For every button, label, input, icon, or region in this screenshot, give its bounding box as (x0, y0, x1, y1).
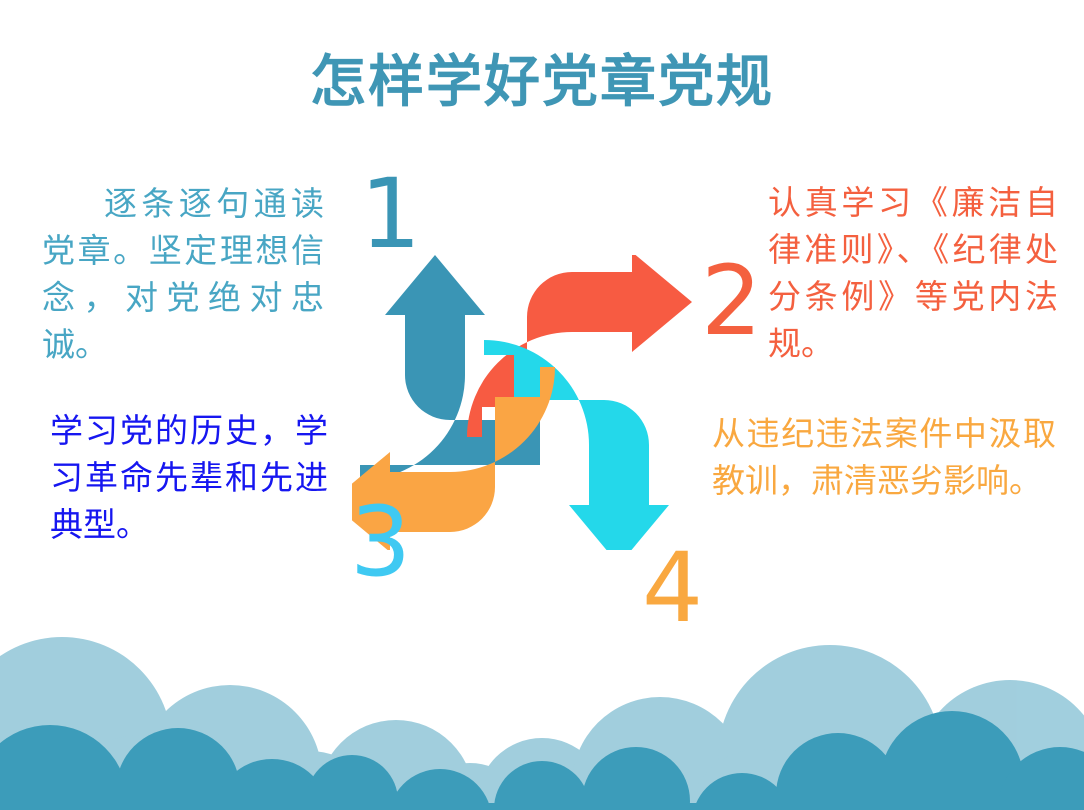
step-text-2: 认真学习《廉洁自律准则》、《纪律处分条例》等党内法规。 (768, 180, 1058, 367)
page-title: 怎样学好党章党规 (0, 52, 1084, 114)
step-number-1: 1 (360, 166, 421, 262)
step-number-4: 4 (642, 540, 703, 636)
cloud-decoration (0, 625, 1084, 810)
step-number-2: 2 (701, 253, 762, 349)
step-text-3: 学习党的历史，学习革命先辈和先进典型。 (50, 408, 328, 549)
step-text-4: 从违纪违法案件中汲取教训，肃清恶劣影响。 (712, 411, 1056, 505)
step-text-1: 逐条逐句通读党章。坚定理想信念，对党绝对忠诚。 (42, 181, 324, 368)
slide-canvas: 怎样学好党章党规 1 2 3 4 逐条逐句通读党章。坚定理想信念，对党绝对 (0, 0, 1084, 810)
step-number-3: 3 (350, 494, 411, 590)
